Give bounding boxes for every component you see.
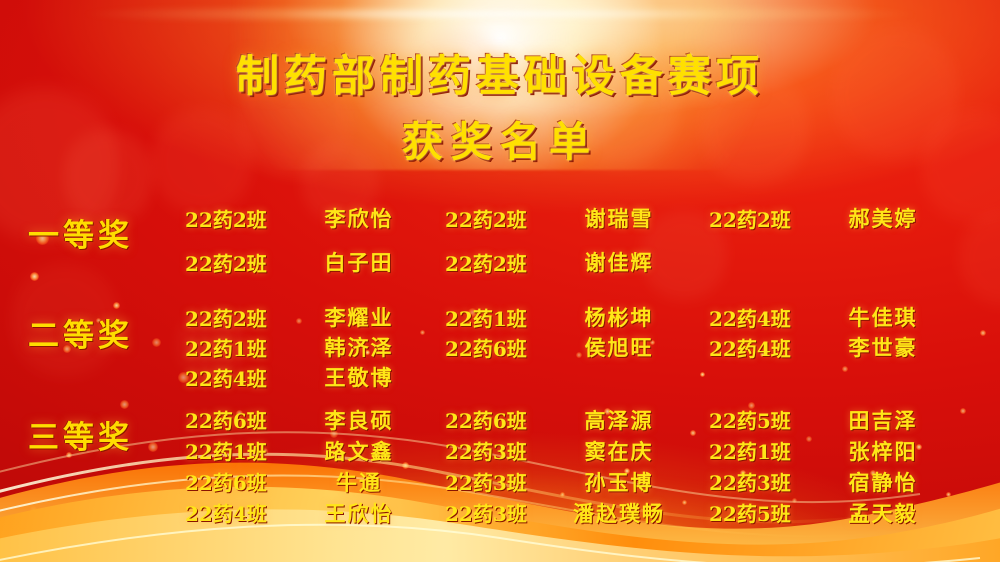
poster-title-block: 制药部制药基础设备赛项 获奖名单 [0,52,1000,166]
table-row: 22药1班路文鑫22药3班窦在庆22药1班张梓阳 [0,435,1000,466]
winner-class: 22药4班 [709,333,817,362]
winner-class: 22药4班 [709,303,817,332]
winner-entry: 22药6班牛通 [185,467,425,497]
winner-class: 22药2班 [445,248,553,277]
award-tier-label: 三等奖 [28,412,133,457]
winner-entry: 22药1班张梓阳 [709,436,949,466]
winner-class: 22药2班 [185,204,293,233]
award-tier-label: 二等奖 [28,310,133,355]
winner-entry: 22药1班路文鑫 [185,436,425,466]
winner-name: 王欣怡 [293,498,425,528]
winner-name: 潘赵璞畅 [553,498,685,528]
winner-entry: 22药4班李世豪 [709,332,949,362]
winner-class: 22药6班 [185,467,293,496]
winner-class: 22药6班 [445,405,553,434]
award-rows: 22药2班李耀业22药1班杨彬坤22药4班牛佳琪22药1班韩济泽22药6班侯旭旺… [0,302,1000,392]
winner-class: 22药2班 [185,248,293,277]
winner-class: 22药1班 [185,436,293,465]
winner-entry: 22药2班李耀业 [185,302,425,332]
winner-class: 22药2班 [445,204,553,233]
winner-class: 22药4班 [185,363,293,392]
winner-name: 杨彬坤 [553,302,685,332]
winner-entry: 22药2班谢佳辉 [445,247,685,277]
table-row: 22药2班李欣怡22药2班谢瑞雪22药2班郝美婷 [0,196,1000,240]
winner-name: 孟天毅 [817,498,949,528]
winner-name: 张梓阳 [817,436,949,466]
table-row: 22药2班李耀业22药1班杨彬坤22药4班牛佳琪 [0,302,1000,332]
winner-name: 韩济泽 [293,332,425,362]
winner-name: 李世豪 [817,332,949,362]
award-rows: 22药2班李欣怡22药2班谢瑞雪22药2班郝美婷22药2班白子田22药2班谢佳辉 [0,196,1000,284]
winner-name: 侯旭旺 [553,332,685,362]
winner-entry: 22药2班郝美婷 [709,203,949,233]
table-row: 22药2班白子田22药2班谢佳辉 [0,240,1000,284]
winner-entry: 22药6班侯旭旺 [445,332,685,362]
winner-entry: 22药2班李欣怡 [185,203,425,233]
top-light-streak [80,8,920,20]
winner-entry: 22药4班王敬博 [185,362,425,392]
winner-class: 22药6班 [445,333,553,362]
winner-name: 牛通 [293,467,425,497]
winner-name: 宿静怡 [817,467,949,497]
winner-class: 22药3班 [445,436,553,465]
winner-name: 郝美婷 [817,203,949,233]
award-group: 二等奖22药2班李耀业22药1班杨彬坤22药4班牛佳琪22药1班韩济泽22药6班… [0,302,1000,392]
award-poster: 制药部制药基础设备赛项 获奖名单 一等奖22药2班李欣怡22药2班谢瑞雪22药2… [0,0,1000,562]
winner-entry: 22药1班杨彬坤 [445,302,685,332]
winner-class: 22药3班 [709,467,817,496]
winner-entry: 22药5班田吉泽 [709,405,949,435]
winner-name: 牛佳琪 [817,302,949,332]
winner-class: 22药2班 [185,303,293,332]
winner-name: 李欣怡 [293,203,425,233]
award-tier-label: 一等奖 [28,210,133,255]
winner-class: 22药5班 [709,405,817,434]
winner-entry: 22药4班牛佳琪 [709,302,949,332]
winner-entry: 22药1班韩济泽 [185,332,425,362]
winner-entry: 22药3班孙玉博 [445,467,685,497]
table-row: 22药6班牛通22药3班孙玉博22药3班宿静怡 [0,466,1000,497]
winner-name: 李良硕 [293,405,425,435]
winner-name: 高泽源 [553,405,685,435]
award-group: 三等奖22药6班李良硕22药6班高泽源22药5班田吉泽22药1班路文鑫22药3班… [0,404,1000,528]
winner-entry: 22药3班潘赵璞畅 [445,498,685,528]
winner-name: 窦在庆 [553,436,685,466]
table-row: 22药1班韩济泽22药6班侯旭旺22药4班李世豪 [0,332,1000,362]
winner-name: 王敬博 [293,362,425,392]
table-row: 22药4班王欣怡22药3班潘赵璞畅22药5班孟天毅 [0,497,1000,528]
winner-class: 22药4班 [185,498,293,527]
winner-class: 22药1班 [709,436,817,465]
winner-name: 孙玉博 [553,467,685,497]
winner-name: 李耀业 [293,302,425,332]
winner-entry: 22药3班窦在庆 [445,436,685,466]
winner-name: 田吉泽 [817,405,949,435]
winner-class: 22药2班 [709,204,817,233]
winner-entry: 22药3班宿静怡 [709,467,949,497]
winner-class: 22药3班 [445,498,553,527]
winner-class: 22药3班 [445,467,553,496]
winner-class: 22药1班 [185,333,293,362]
winner-entry: 22药2班白子田 [185,247,425,277]
winner-name: 谢佳辉 [553,247,685,277]
winner-class: 22药6班 [185,405,293,434]
winner-entry: 22药6班高泽源 [445,405,685,435]
page-subtitle: 获奖名单 [0,118,1000,166]
winner-entry: 22药6班李良硕 [185,405,425,435]
table-row: 22药4班王敬博 [0,362,1000,392]
winner-entry: 22药4班王欣怡 [185,498,425,528]
page-title: 制药部制药基础设备赛项 [0,52,1000,102]
table-row: 22药6班李良硕22药6班高泽源22药5班田吉泽 [0,404,1000,435]
winner-entry: 22药5班孟天毅 [709,498,949,528]
winner-name: 谢瑞雪 [553,203,685,233]
winner-name: 路文鑫 [293,436,425,466]
award-rows: 22药6班李良硕22药6班高泽源22药5班田吉泽22药1班路文鑫22药3班窦在庆… [0,404,1000,528]
winner-class: 22药1班 [445,303,553,332]
award-group: 一等奖22药2班李欣怡22药2班谢瑞雪22药2班郝美婷22药2班白子田22药2班… [0,196,1000,284]
winner-name: 白子田 [293,247,425,277]
winner-class: 22药5班 [709,498,817,527]
winner-entry: 22药2班谢瑞雪 [445,203,685,233]
